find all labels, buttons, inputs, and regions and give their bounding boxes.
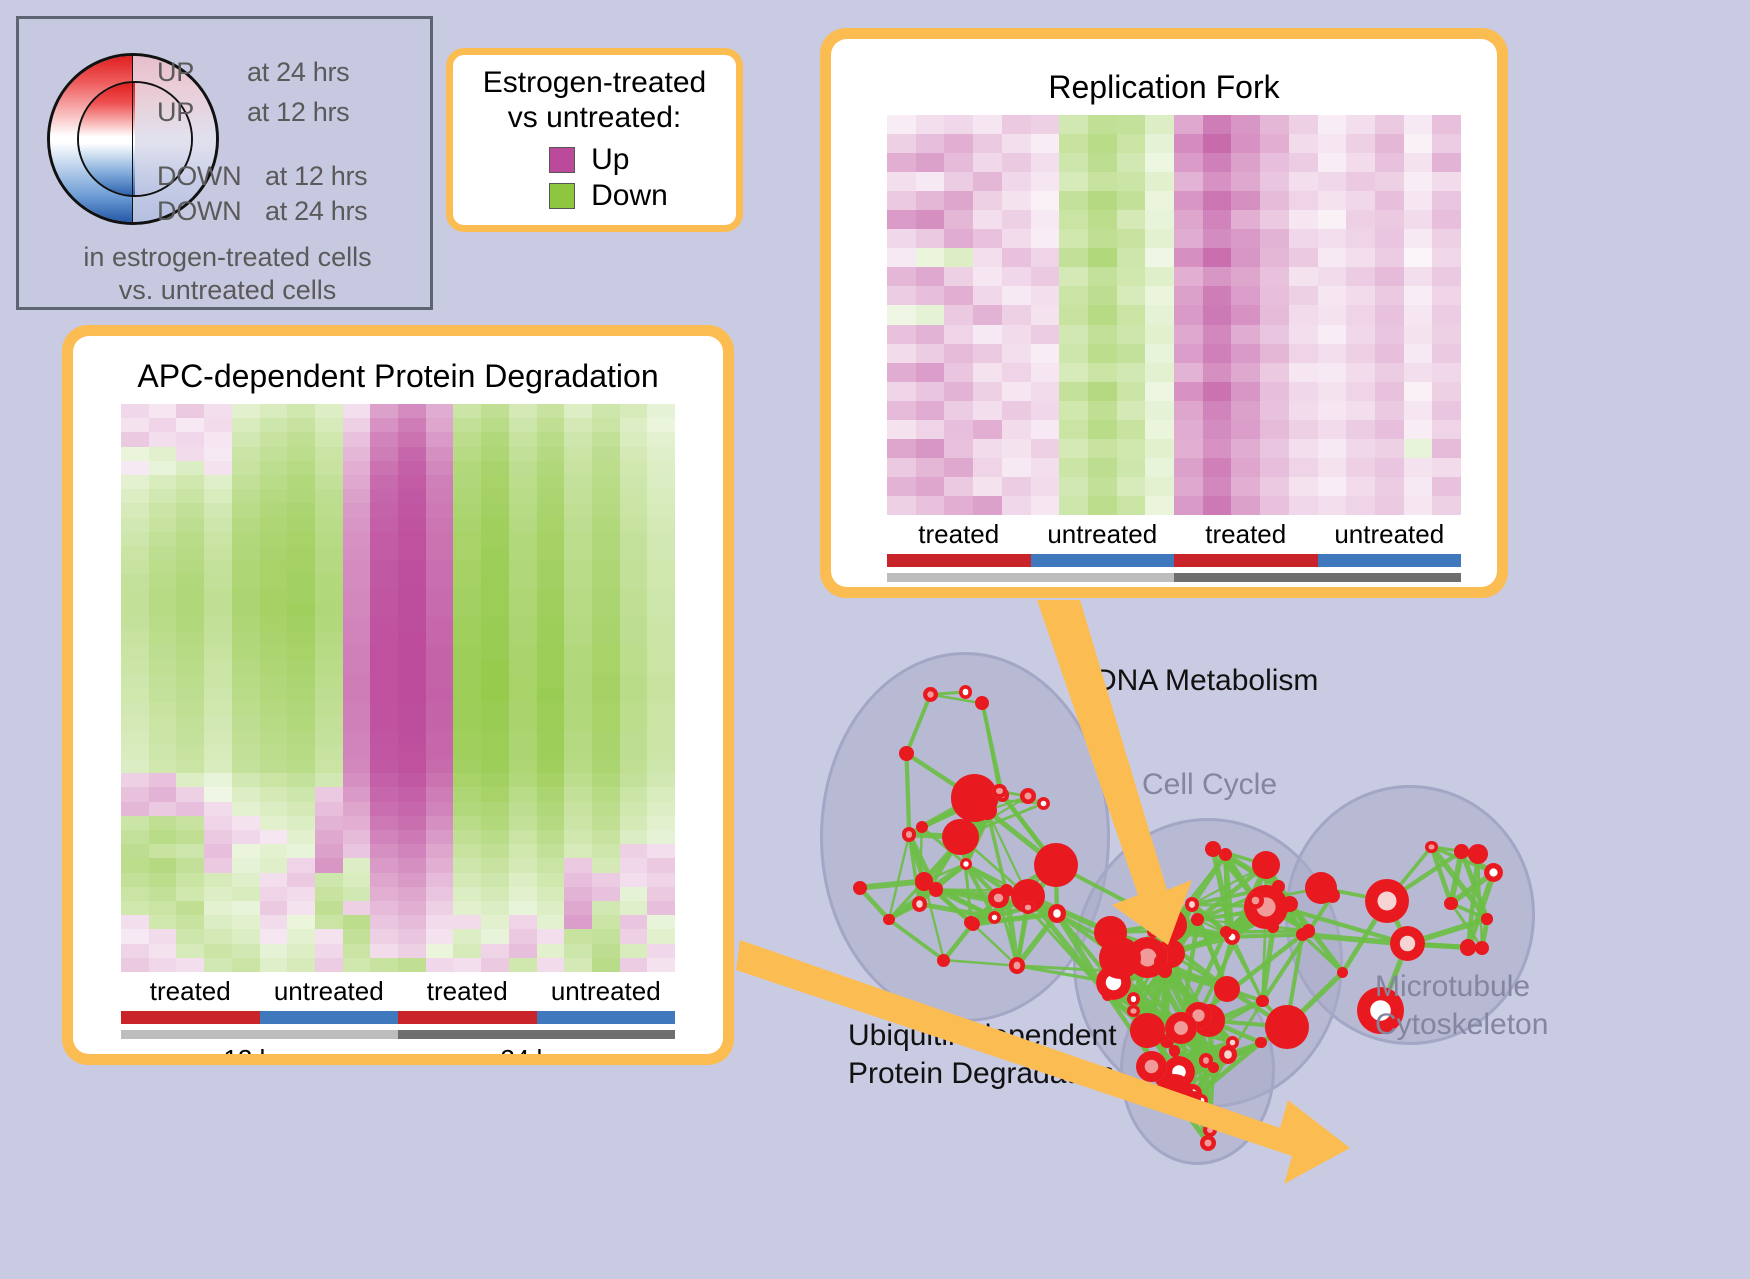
- heatmap-cell: [944, 248, 973, 267]
- network-node[interactable]: [1185, 897, 1200, 912]
- heatmap-cell: [121, 802, 149, 816]
- heatmap-cell: [1260, 420, 1289, 439]
- heatmap-cell: [370, 958, 398, 972]
- heatmap-cell: [1318, 439, 1347, 458]
- heatmap-cell: [426, 802, 454, 816]
- wheel-row-1-label: UP: [157, 97, 194, 128]
- heatmap-cell: [453, 858, 481, 872]
- heatmap-cell: [121, 631, 149, 645]
- heatmap-cell: [1346, 153, 1375, 172]
- heatmap-cell: [509, 802, 537, 816]
- heatmap-cell: [398, 759, 426, 773]
- heatmap-cell: [453, 901, 481, 915]
- heatmap-cell: [315, 475, 343, 489]
- heatmap-cell: [1260, 382, 1289, 401]
- heatmap-cell: [426, 432, 454, 446]
- updown-items: Up Down: [521, 141, 668, 215]
- heatmap-cell: [343, 802, 371, 816]
- heatmap-cell: [1145, 458, 1174, 477]
- heatmap-cell: [592, 447, 620, 461]
- wheel-row-2-label: DOWN: [157, 161, 241, 192]
- heatmap-cell: [1002, 134, 1031, 153]
- heatmap-cell: [204, 546, 232, 560]
- heatmap-cell: [232, 489, 260, 503]
- heatmap-cell: [315, 731, 343, 745]
- heatmap-cell: [204, 830, 232, 844]
- heatmap-cell: [121, 731, 149, 745]
- network-node[interactable]: [1425, 841, 1438, 854]
- heatmap-cell: [1432, 153, 1461, 172]
- heatmap-cell: [944, 439, 973, 458]
- heatmap-cell: [1117, 458, 1146, 477]
- heatmap-cell: [315, 702, 343, 716]
- heatmap-cell: [1002, 305, 1031, 324]
- heatmap-cell: [453, 461, 481, 475]
- heatmap-cell: [944, 401, 973, 420]
- heatmap-cell: [1404, 496, 1433, 515]
- heatmap-cell: [1231, 286, 1260, 305]
- network-node[interactable]: [1219, 1045, 1238, 1064]
- heatmap-cell: [287, 802, 315, 816]
- heatmap-cell: [232, 858, 260, 872]
- heatmap-cell: [149, 802, 177, 816]
- heatmap-cell: [370, 873, 398, 887]
- heatmap-cell: [453, 773, 481, 787]
- heatmap-cell: [1088, 439, 1117, 458]
- heatmap-cell: [620, 844, 648, 858]
- heatmap-cell: [1231, 172, 1260, 191]
- heatmap-cell: [1375, 363, 1404, 382]
- heatmap-cell: [916, 229, 945, 248]
- heatmap-cell: [315, 461, 343, 475]
- heatmap-cell: [537, 560, 565, 574]
- heatmap-cell: [1203, 363, 1232, 382]
- heatmap-cell: [1404, 439, 1433, 458]
- heatmap-cell: [1289, 325, 1318, 344]
- network-node[interactable]: [942, 819, 978, 855]
- heatmap-cell: [592, 802, 620, 816]
- heatmap-cell: [287, 418, 315, 432]
- heatmap-cell: [592, 674, 620, 688]
- heatmap-cell: [1059, 153, 1088, 172]
- network-node[interactable]: [1272, 880, 1285, 893]
- heatmap-cell: [398, 574, 426, 588]
- heatmap-cell: [1059, 305, 1088, 324]
- group-label-apc-3: untreated: [537, 976, 676, 1007]
- heatmap-cell: [287, 901, 315, 915]
- heatmap-cell: [592, 603, 620, 617]
- heatmap-cell: [620, 660, 648, 674]
- time-seg-12h-apc: [121, 1030, 398, 1039]
- heatmap-cell: [944, 210, 973, 229]
- network-node[interactable]: [1481, 913, 1493, 925]
- heatmap-cell: [287, 574, 315, 588]
- heatmap-cell: [973, 267, 1002, 286]
- heatmap-cell: [343, 816, 371, 830]
- heatmap-cell: [370, 745, 398, 759]
- heatmap-cell: [398, 532, 426, 546]
- network-node[interactable]: [1219, 848, 1232, 861]
- heatmap-cell: [398, 787, 426, 801]
- heatmap-cell: [176, 461, 204, 475]
- network-node[interactable]: [1460, 939, 1477, 956]
- heatmap-cell: [398, 816, 426, 830]
- heatmap-cell: [620, 702, 648, 716]
- heatmap-cell: [370, 589, 398, 603]
- heatmap-cell: [287, 589, 315, 603]
- heatmap-cell: [176, 787, 204, 801]
- heatmap-cell: [592, 858, 620, 872]
- heatmap-cell: [287, 702, 315, 716]
- heatmap-cell: [916, 134, 945, 153]
- heatmap-cell: [398, 929, 426, 943]
- heatmap-cell: [204, 560, 232, 574]
- heatmap-cell: [620, 518, 648, 532]
- network-node[interactable]: [1199, 1053, 1214, 1068]
- heatmap-cell: [343, 887, 371, 901]
- group-label-rf-0: treated: [887, 519, 1031, 550]
- network-node[interactable]: [1099, 937, 1141, 979]
- network-node[interactable]: [992, 784, 1006, 798]
- heatmap-cell: [149, 944, 177, 958]
- heatmap-cell: [232, 745, 260, 759]
- heatmap-cell: [1318, 134, 1347, 153]
- heatmap-cell: [1318, 229, 1347, 248]
- network-node[interactable]: [1214, 976, 1240, 1002]
- network-node[interactable]: [853, 881, 867, 895]
- heatmap-cell: [564, 546, 592, 560]
- heatmap-cell: [176, 830, 204, 844]
- heatmap-cell: [916, 363, 945, 382]
- heatmap-cell: [1174, 153, 1203, 172]
- heatmap-cell: [647, 702, 675, 716]
- heatmap-cell: [537, 929, 565, 943]
- group-label-rf-2: treated: [1174, 519, 1318, 550]
- heatmap-cell: [620, 589, 648, 603]
- heatmap-cell: [1231, 382, 1260, 401]
- heatmap-cell: [260, 560, 288, 574]
- heatmap-cell: [537, 688, 565, 702]
- heatmap-cell: [149, 929, 177, 943]
- heatmap-cell: [620, 461, 648, 475]
- heatmap-cell: [232, 702, 260, 716]
- heatmap-cell: [564, 958, 592, 972]
- heatmap-cell: [647, 830, 675, 844]
- wheel-row-3-label: DOWN: [157, 196, 241, 227]
- network-node[interactable]: [1165, 1012, 1197, 1044]
- heatmap-cell: [343, 787, 371, 801]
- heatmap-cell: [1432, 191, 1461, 210]
- heatmap-cell: [315, 589, 343, 603]
- network-node[interactable]: [1255, 1037, 1266, 1048]
- heatmap-cell: [315, 518, 343, 532]
- heatmap-cell: [1260, 496, 1289, 515]
- network-node[interactable]: [902, 827, 916, 841]
- heatmap-cell: [232, 844, 260, 858]
- heatmap-cell: [537, 461, 565, 475]
- heatmap-cell: [176, 716, 204, 730]
- network-node[interactable]: [1454, 844, 1469, 859]
- heatmap-cell: [564, 787, 592, 801]
- heatmap-cell: [315, 944, 343, 958]
- heatmap-cell: [343, 560, 371, 574]
- heatmap-cell: [564, 858, 592, 872]
- heatmap-cell: [537, 816, 565, 830]
- heatmap-cell: [426, 944, 454, 958]
- heatmap-cell: [537, 745, 565, 759]
- heatmap-cell: [1289, 267, 1318, 286]
- heatmap-cell: [204, 716, 232, 730]
- heatmap-cell: [287, 645, 315, 659]
- heatmap-cell: [1404, 210, 1433, 229]
- network-node[interactable]: [923, 687, 938, 702]
- network-node[interactable]: [978, 801, 997, 820]
- heatmap-cell: [232, 475, 260, 489]
- network-node[interactable]: [1302, 924, 1316, 938]
- heatmap-cell: [944, 305, 973, 324]
- network-node[interactable]: [1021, 901, 1035, 915]
- heatmap-cell: [398, 518, 426, 532]
- heatmap-cell: [1203, 382, 1232, 401]
- legend-label-down: Down: [591, 179, 668, 213]
- heatmap-cell: [481, 461, 509, 475]
- heatmap-cell: [647, 461, 675, 475]
- heatmap-cell: [1404, 267, 1433, 286]
- network-node[interactable]: [1186, 1091, 1201, 1106]
- heatmap-cell: [121, 589, 149, 603]
- heatmap-cell: [1002, 420, 1031, 439]
- heatmap-cell: [1117, 439, 1146, 458]
- heatmap-cell: [1432, 325, 1461, 344]
- network-node[interactable]: [960, 858, 972, 870]
- heatmap-cell: [1231, 115, 1260, 134]
- network-node[interactable]: [1169, 1045, 1180, 1056]
- heatmap-cell: [315, 489, 343, 503]
- heatmap-cell: [592, 873, 620, 887]
- heatmap-cell: [287, 503, 315, 517]
- heatmap-cell: [204, 873, 232, 887]
- heatmap-cell: [564, 873, 592, 887]
- network-node[interactable]: [1153, 908, 1188, 943]
- heatmap-cell: [592, 759, 620, 773]
- heatmap-cell: [176, 929, 204, 943]
- network-node[interactable]: [1034, 843, 1078, 887]
- heatmap-cell: [1432, 229, 1461, 248]
- network-node[interactable]: [1037, 797, 1050, 810]
- network-node[interactable]: [915, 872, 934, 891]
- network-node[interactable]: [1000, 884, 1013, 897]
- heatmap-cell: [944, 286, 973, 305]
- heatmap-cell: [973, 286, 1002, 305]
- heatmap-cell: [1088, 420, 1117, 439]
- heatmap-cell: [1174, 115, 1203, 134]
- heatmap-cell: [149, 660, 177, 674]
- heatmap-cell: [1002, 267, 1031, 286]
- heatmap-cell: [260, 546, 288, 560]
- heatmap-cell: [149, 617, 177, 631]
- heatmap-cell: [287, 688, 315, 702]
- heatmap-apc: [121, 404, 675, 972]
- heatmap-cell: [1289, 115, 1318, 134]
- network-node[interactable]: [1444, 897, 1457, 910]
- network-node[interactable]: [899, 746, 914, 761]
- heatmap-cell: [592, 560, 620, 574]
- heatmap-cell: [343, 745, 371, 759]
- heatmap-cell: [370, 915, 398, 929]
- heatmap-cell: [1404, 191, 1433, 210]
- heatmap-cell: [1174, 286, 1203, 305]
- heatmap-cell: [204, 844, 232, 858]
- heatmap-cell: [121, 560, 149, 574]
- heatmap-cell: [1203, 439, 1232, 458]
- heatmap-cell: [315, 404, 343, 418]
- heatmap-cell: [426, 915, 454, 929]
- heatmap-cell: [370, 802, 398, 816]
- heatmap-cell: [204, 660, 232, 674]
- network-node[interactable]: [1136, 1051, 1167, 1082]
- heatmap-cell: [564, 574, 592, 588]
- heatmap-cell: [121, 816, 149, 830]
- heatmap-cell: [509, 958, 537, 972]
- heatmap-cell: [204, 447, 232, 461]
- heatmap-cell: [1002, 153, 1031, 172]
- heatmap-cell: [121, 489, 149, 503]
- network-node[interactable]: [937, 954, 950, 967]
- heatmap-cell: [176, 731, 204, 745]
- heatmap-cell: [343, 404, 371, 418]
- heatmap-cell: [1002, 477, 1031, 496]
- heatmap-cell: [620, 858, 648, 872]
- heatmap-cell: [370, 759, 398, 773]
- group-label-apc-1: untreated: [260, 976, 399, 1007]
- heatmap-cell: [204, 418, 232, 432]
- heatmap-cell: [370, 901, 398, 915]
- heatmap-cell: [1117, 267, 1146, 286]
- heatmap-cell: [916, 172, 945, 191]
- heatmap-cell: [121, 858, 149, 872]
- figure-canvas: UP at 24 hrs UP at 12 hrs DOWN at 12 hrs…: [0, 0, 1750, 1279]
- heatmap-cell: [1088, 229, 1117, 248]
- heatmap-cell: [398, 858, 426, 872]
- heatmap-cell: [944, 172, 973, 191]
- heatmap-cell: [1432, 172, 1461, 191]
- heatmap-cell: [204, 759, 232, 773]
- heatmap-cell: [343, 447, 371, 461]
- heatmap-cell: [453, 674, 481, 688]
- heatmap-cell: [343, 830, 371, 844]
- heatmap-cell: [1203, 172, 1232, 191]
- heatmap-cell: [426, 631, 454, 645]
- heatmap-cell: [509, 759, 537, 773]
- heatmap-cell: [370, 674, 398, 688]
- heatmap-cell: [149, 518, 177, 532]
- heatmap-cell: [592, 546, 620, 560]
- network-node[interactable]: [1278, 902, 1290, 914]
- network-node[interactable]: [1158, 963, 1173, 978]
- heatmap-cell: [204, 944, 232, 958]
- heatmap-cell: [343, 929, 371, 943]
- heatmap-cell: [176, 674, 204, 688]
- network-node[interactable]: [1200, 1135, 1216, 1151]
- heatmap-cell: [509, 404, 537, 418]
- heatmap-cell: [1031, 210, 1060, 229]
- heatmap-cell: [1432, 401, 1461, 420]
- heatmap-cell: [592, 929, 620, 943]
- heatmap-cell: [343, 858, 371, 872]
- heatmap-cell: [647, 674, 675, 688]
- heatmap-cell: [537, 873, 565, 887]
- heatmap-cell: [398, 773, 426, 787]
- heatmap-cell: [453, 844, 481, 858]
- heatmap-cell: [426, 560, 454, 574]
- heatmap-cell: [343, 631, 371, 645]
- heatmap-cell: [398, 645, 426, 659]
- time-label-apc-12h: 12 hrs: [121, 1044, 398, 1054]
- heatmap-cell: [1375, 248, 1404, 267]
- heatmap-cell: [916, 115, 945, 134]
- heatmap-cell: [453, 532, 481, 546]
- network-node[interactable]: [1265, 1005, 1309, 1049]
- heatmap-cell: [620, 489, 648, 503]
- heatmap-cell: [647, 404, 675, 418]
- heatmap-cell: [564, 731, 592, 745]
- heatmap-cell: [176, 503, 204, 517]
- heatmap-cell: [204, 702, 232, 716]
- heatmap-cell: [1031, 191, 1060, 210]
- heatmap-cell: [481, 631, 509, 645]
- heatmap-cell: [1145, 344, 1174, 363]
- heatmap-cell: [287, 830, 315, 844]
- heatmap-cell: [260, 603, 288, 617]
- heatmap-cell: [315, 887, 343, 901]
- heatmap-cell: [343, 518, 371, 532]
- heatmap-cell: [315, 660, 343, 674]
- heatmap-cell: [1117, 363, 1146, 382]
- updown-title-line2: vs untreated:: [508, 100, 681, 135]
- heatmap-cell: [370, 503, 398, 517]
- heatmap-cell: [1260, 363, 1289, 382]
- network-node[interactable]: [883, 914, 895, 926]
- heatmap-cell: [537, 617, 565, 631]
- heatmap-cell: [564, 589, 592, 603]
- heatmap-cell: [592, 716, 620, 730]
- heatmap-cell: [1318, 210, 1347, 229]
- heatmap-cell: [398, 475, 426, 489]
- network-node[interactable]: [1252, 851, 1281, 880]
- heatmap-cell: [370, 844, 398, 858]
- heatmap-cell: [592, 830, 620, 844]
- network-node[interactable]: [912, 896, 927, 911]
- heatmap-cell: [370, 887, 398, 901]
- network-node[interactable]: [1267, 921, 1279, 933]
- network-node[interactable]: [964, 916, 978, 930]
- network-node[interactable]: [959, 685, 972, 698]
- heatmap-cell: [973, 401, 1002, 420]
- heatmap-cell: [620, 773, 648, 787]
- heatmap-cell: [1117, 305, 1146, 324]
- heatmap-cell: [149, 816, 177, 830]
- heatmap-cell: [204, 731, 232, 745]
- heatmap-cell: [1145, 477, 1174, 496]
- heatmap-cell: [1231, 325, 1260, 344]
- heatmap-cell: [1289, 172, 1318, 191]
- heatmap-cell: [916, 248, 945, 267]
- heatmap-cell: [537, 489, 565, 503]
- time-seg-24h-apc: [398, 1030, 675, 1039]
- legend-item-up: Up: [549, 143, 668, 177]
- heatmap-cell: [916, 420, 945, 439]
- heatmap-cell: [564, 631, 592, 645]
